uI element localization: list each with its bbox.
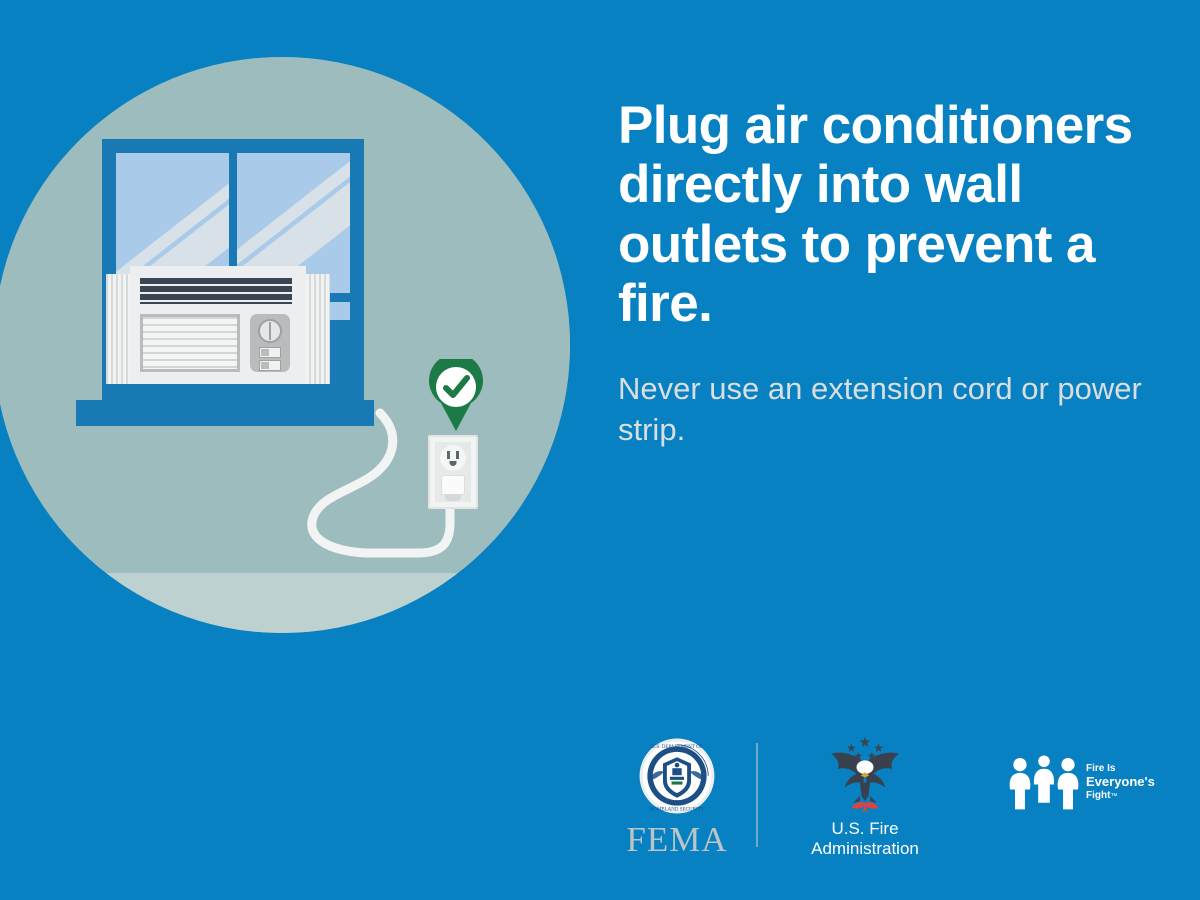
ac-plug-neck [445,494,461,501]
ac-side-panel-right [304,274,330,384]
usfa-wordmark-line2: Administration [790,839,940,859]
headline: Plug air conditioners directly into wall… [618,96,1158,333]
fema-logo: U.S. DEPARTMENT OF HOMELAND SECURITY FEM… [618,737,736,857]
outlet-slot-right [456,451,459,459]
illustration-area [0,0,600,900]
fief-trademark: ™ [1110,793,1117,800]
ac-button-1-icon [259,347,281,358]
usfa-logo: U.S. Fire Administration [790,735,940,860]
ac-top-vent [140,278,292,304]
fief-line1: Fire Is [1086,763,1155,775]
ac-body [130,266,306,384]
outlet-ground-hole [450,461,457,466]
subheadline: Never use an extension cord or power str… [618,369,1158,450]
approved-check-pin-icon [428,359,484,431]
fief-line3-text: Fight [1086,790,1110,801]
wall-outlet [428,435,478,509]
usfa-wordmark-line1: U.S. Fire [790,819,940,839]
usfa-wordmark: U.S. Fire Administration [790,819,940,860]
fief-logo: Fire Is Everyone's Fight™ [1008,753,1168,811]
poster-canvas: Plug air conditioners directly into wall… [0,0,1200,900]
outlet-slot-left [447,451,450,459]
text-column: Plug air conditioners directly into wall… [618,96,1158,450]
ac-control-panel [250,314,290,372]
dhs-seal-text-top: U.S. DEPARTMENT OF [651,744,702,750]
floor-surface [0,573,570,633]
fief-wordmark: Fire Is Everyone's Fight™ [1086,763,1155,802]
dhs-seal-icon: U.S. DEPARTMENT OF HOMELAND SECURITY [638,737,716,815]
usfa-eagle-icon [822,735,908,813]
logo-divider [756,743,758,847]
fema-wordmark: FEMA [618,822,736,857]
ac-louver-grille [140,314,240,372]
scene-circle [0,57,570,633]
fief-figures-flame-icon [1008,753,1080,811]
fief-line3: Fight™ [1086,790,1155,802]
ac-button-2-icon [259,360,281,371]
fief-line2: Everyone's [1086,774,1155,789]
window-sill [76,400,374,426]
outlet-socket-upper-icon [440,445,466,471]
dhs-seal-text-bottom: HOMELAND SECURITY [650,806,705,812]
ac-plug [441,475,465,495]
ac-side-panel-left [106,274,132,384]
footer-logo-bar: U.S. DEPARTMENT OF HOMELAND SECURITY FEM… [600,735,1180,865]
window-air-conditioner [106,266,330,384]
ac-dial-knob-icon [258,319,282,343]
